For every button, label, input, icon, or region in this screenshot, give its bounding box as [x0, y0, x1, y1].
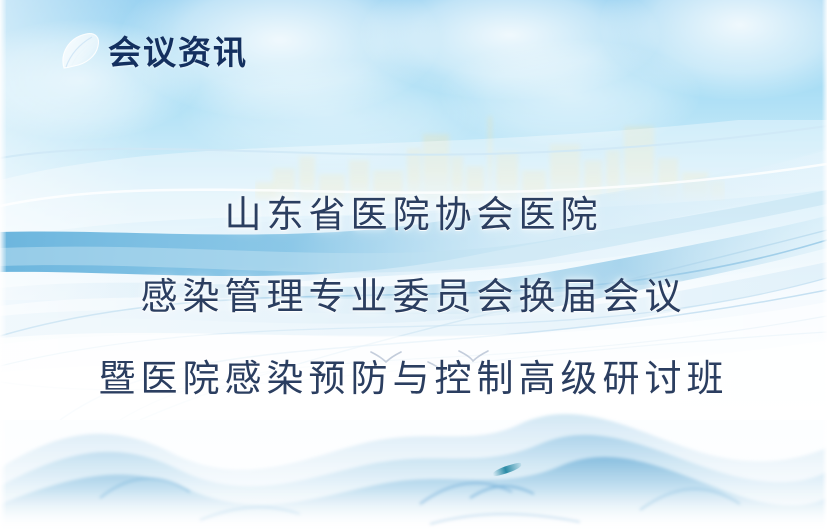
right-edge-highlight	[822, 0, 827, 530]
swoosh-leaf-logo-icon	[56, 28, 102, 76]
left-edge-highlight	[0, 0, 6, 530]
logo-text: 会议资讯	[108, 36, 248, 69]
logo[interactable]: 会议资讯	[56, 24, 248, 80]
title-line-1: 山东省医院协会医院	[0, 196, 827, 233]
title-line-3: 暨医院感染预防与控制高级研讨班	[0, 360, 827, 397]
conference-poster: 会议资讯 山东省医院协会医院 感染管理专业委员会换届会议 暨医院感染预防与控制高…	[0, 0, 827, 530]
title-line-2: 感染管理专业委员会换届会议	[0, 278, 827, 315]
title-block: 山东省医院协会医院 感染管理专业委员会换届会议 暨医院感染预防与控制高级研讨班	[0, 196, 827, 397]
